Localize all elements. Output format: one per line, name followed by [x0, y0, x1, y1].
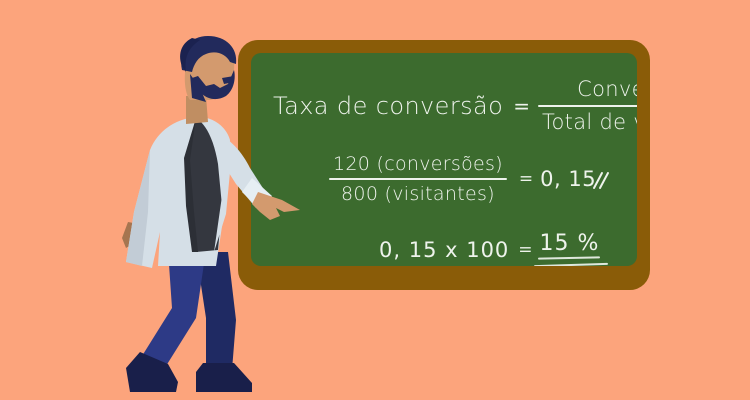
conversion-rate-label: Taxa de conversão: [273, 92, 503, 120]
fraction-bar-2: [329, 178, 507, 180]
percent-expression: 0, 15 x 100: [379, 238, 509, 262]
final-answer: 15 %: [540, 231, 600, 256]
equals-sign-2: =: [519, 169, 533, 189]
answer-underline-2: [534, 263, 608, 266]
neck: [186, 96, 208, 124]
equation-line-1: Taxa de conversão = Conversões Total de …: [273, 71, 637, 141]
blackboard: Taxa de conversão = Conversões Total de …: [238, 40, 650, 290]
formula-denominator: Total de visitantes: [538, 110, 637, 135]
coat-lapel: [214, 124, 230, 252]
lab-coat: [126, 117, 230, 268]
equals-sign-1: =: [513, 94, 530, 118]
equation-line-3: 0, 15 x 100 = 15 %: [379, 231, 599, 266]
values-fraction: 120 (conversões) 800 (visitantes): [329, 153, 507, 206]
values-denominator: 800 (visitantes): [337, 183, 499, 205]
front-shoe: [126, 352, 178, 392]
hair-back: [180, 38, 200, 72]
vest-fold: [184, 118, 198, 252]
values-numerator: 120 (conversões): [329, 153, 507, 175]
equals-sign-3: =: [518, 240, 532, 260]
back-leg: [196, 252, 236, 370]
vest: [186, 118, 222, 252]
decimal-result: 0, 15: [540, 167, 596, 191]
formula-numerator: Conversões: [573, 77, 637, 102]
equation-line-2: 120 (conversões) 800 (visitantes) = 0, 1…: [329, 153, 610, 206]
blackboard-surface: Taxa de conversão = Conversões Total de …: [251, 53, 637, 266]
lab-coat-shadow: [126, 150, 150, 266]
mustache: [222, 76, 234, 84]
fraction-bar-1: [538, 105, 637, 107]
back-shoe: [196, 363, 252, 392]
back-hand: [122, 222, 152, 250]
formula-fraction: Conversões Total de visitantes: [538, 77, 637, 135]
beard: [192, 70, 235, 99]
head: [185, 40, 235, 100]
double-slash-mark: [594, 169, 610, 189]
scene-root: Taxa de conversão = Conversões Total de …: [0, 0, 750, 400]
front-leg: [142, 250, 206, 366]
hair: [181, 36, 236, 72]
beard-jaw: [190, 74, 206, 102]
answer-underline-1: [538, 256, 600, 259]
back-arm: [132, 146, 170, 232]
final-answer-group: 15 %: [540, 231, 600, 266]
